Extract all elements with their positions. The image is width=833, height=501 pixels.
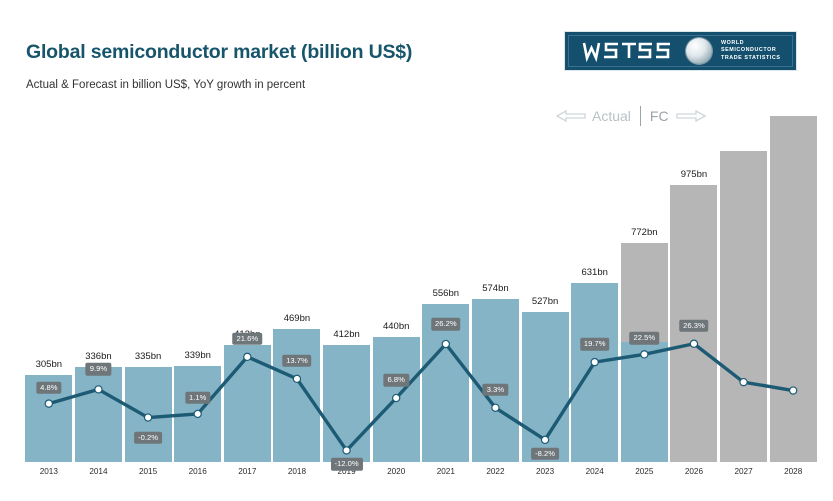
logo-tagline-line3: TRADE STATISTICS xyxy=(721,55,781,62)
bar-2018[interactable]: 469bn xyxy=(273,329,320,462)
yoy-badge-2022: 3.3% xyxy=(483,384,508,397)
bar-value-label-2026: 975bn xyxy=(681,169,707,180)
bar-2016[interactable]: 339bn xyxy=(174,366,221,462)
yoy-badge-2019: -12.0% xyxy=(331,458,363,471)
x-tick-2022: 2022 xyxy=(486,467,504,476)
x-tick-2027: 2027 xyxy=(734,467,752,476)
page-subtitle: Actual & Forecast in billion US$, YoY gr… xyxy=(26,79,305,91)
chart-canvas: Global semiconductor market (billion US$… xyxy=(0,0,833,501)
x-tick-2026: 2026 xyxy=(685,467,703,476)
bar-value-label-2013: 305bn xyxy=(36,359,62,370)
yoy-badge-2015: -0.2% xyxy=(134,431,162,444)
yoy-badge-2023: -8.2% xyxy=(531,448,559,461)
yoy-badge-2026: 26.3% xyxy=(679,319,709,332)
bar-value-label-2021: 556bn xyxy=(433,288,459,299)
bar-2019[interactable]: 412bn xyxy=(323,345,370,462)
bar-fill xyxy=(224,345,271,462)
bar-forecast-cap xyxy=(621,243,668,342)
bar-fill xyxy=(472,299,519,462)
bar-value-label-2015: 335bn xyxy=(135,351,161,362)
bar-fill xyxy=(174,366,221,462)
logo-inner: WORLD SEMICONDUCTOR TRADE STATISTICS xyxy=(568,35,793,67)
x-tick-2016: 2016 xyxy=(189,467,207,476)
bar-2025[interactable]: 772bn xyxy=(621,243,668,462)
yoy-badge-2017: 21.6% xyxy=(233,333,263,346)
x-tick-2021: 2021 xyxy=(437,467,455,476)
bar-fill xyxy=(75,367,122,462)
yoy-badge-2016: 1.1% xyxy=(185,392,210,405)
bar-2023[interactable]: 527bn xyxy=(522,312,569,462)
x-tick-2020: 2020 xyxy=(387,467,405,476)
bar-2028[interactable] xyxy=(770,116,817,462)
bar-2015[interactable]: 335bn xyxy=(125,367,172,462)
bar-value-label-2016: 339bn xyxy=(184,350,210,361)
logo-tagline-line1: WORLD xyxy=(721,40,781,47)
yoy-badge-2021: 26.2% xyxy=(431,318,461,331)
bar-fill xyxy=(720,151,767,462)
yoy-badge-2024: 19.7% xyxy=(580,338,610,351)
x-tick-2024: 2024 xyxy=(586,467,604,476)
x-tick-2028: 2028 xyxy=(784,467,802,476)
yoy-badge-2025: 22.5% xyxy=(630,332,660,345)
wsts-wordmark-icon xyxy=(582,40,674,62)
x-axis: 2013201420152016201720182019202020212022… xyxy=(0,462,833,484)
bar-2022[interactable]: 574bn xyxy=(472,299,519,462)
yoy-badge-2018: 13.7% xyxy=(282,355,312,368)
bar-value-label-2014: 336bn xyxy=(85,351,111,362)
x-tick-2017: 2017 xyxy=(238,467,256,476)
yoy-badge-2020: 6.8% xyxy=(384,374,409,387)
plot-area: 305bn336bn335bn339bn412bn469bn412bn440bn… xyxy=(0,96,833,462)
bar-fill xyxy=(770,116,817,462)
x-tick-2023: 2023 xyxy=(536,467,554,476)
x-tick-2018: 2018 xyxy=(288,467,306,476)
bar-value-label-2025: 772bn xyxy=(631,227,657,238)
bar-fill xyxy=(373,337,420,462)
bar-value-label-2022: 574bn xyxy=(482,283,508,294)
bar-value-label-2019: 412bn xyxy=(333,329,359,340)
bar-fill xyxy=(273,329,320,462)
x-tick-2015: 2015 xyxy=(139,467,157,476)
bar-value-label-2020: 440bn xyxy=(383,321,409,332)
bar-value-label-2023: 527bn xyxy=(532,296,558,307)
bar-fill xyxy=(522,312,569,462)
globe-icon xyxy=(686,38,712,64)
bar-fill xyxy=(125,367,172,462)
x-tick-2013: 2013 xyxy=(40,467,58,476)
bar-2020[interactable]: 440bn xyxy=(373,337,420,462)
x-tick-2025: 2025 xyxy=(635,467,653,476)
yoy-badge-2013: 4.8% xyxy=(36,381,61,394)
bar-2027[interactable] xyxy=(720,151,767,462)
logo-tagline: WORLD SEMICONDUCTOR TRADE STATISTICS xyxy=(721,40,781,62)
bar-value-label-2018: 469bn xyxy=(284,313,310,324)
bar-2024[interactable]: 631bn xyxy=(571,283,618,462)
bar-value-label-2024: 631bn xyxy=(581,267,607,278)
bar-2014[interactable]: 336bn xyxy=(75,367,122,462)
bar-2017[interactable]: 412bn xyxy=(224,345,271,462)
page-title: Global semiconductor market (billion US$… xyxy=(26,41,412,64)
bar-fill xyxy=(323,345,370,462)
x-tick-2014: 2014 xyxy=(89,467,107,476)
yoy-badge-2014: 9.9% xyxy=(86,363,111,376)
logo-tagline-line2: SEMICONDUCTOR xyxy=(721,47,781,54)
bar-fill xyxy=(571,283,618,462)
wsts-logo: WORLD SEMICONDUCTOR TRADE STATISTICS xyxy=(564,31,797,71)
